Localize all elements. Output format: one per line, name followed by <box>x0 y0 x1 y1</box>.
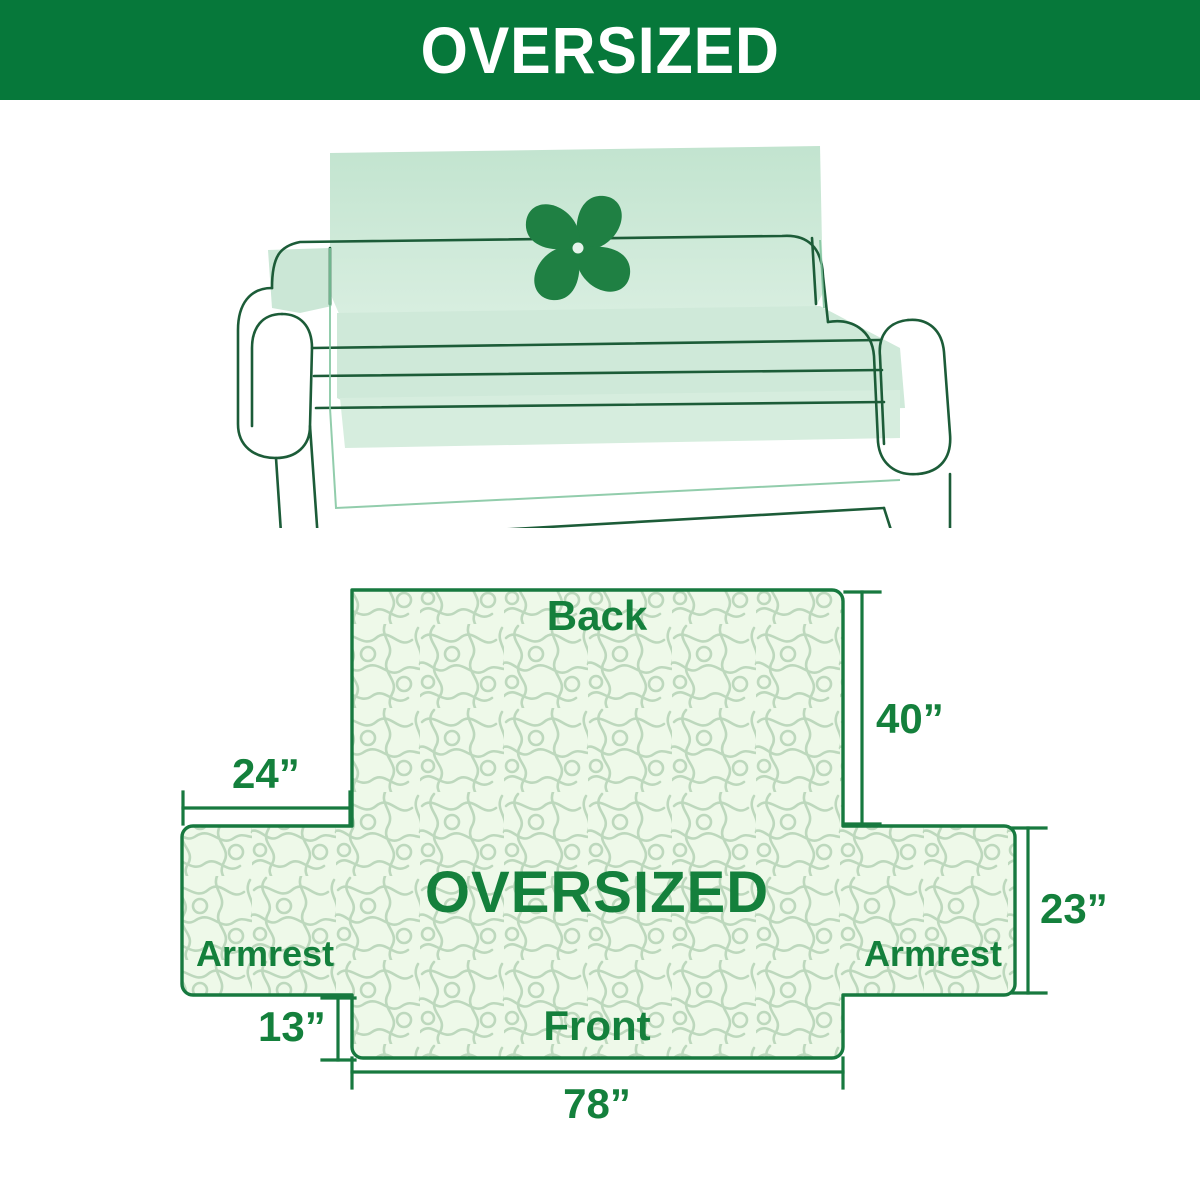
dimension-back-height: 40” <box>845 592 944 824</box>
diagram-center-label: OVERSIZED <box>425 860 769 925</box>
sofa-illustration <box>0 108 1200 528</box>
dimension-total-width-label: 78” <box>563 1080 631 1127</box>
panel-label-armrest-left: Armrest <box>196 933 334 974</box>
dimension-total-width: 78” <box>352 1058 843 1127</box>
header-banner: OVERSIZED <box>0 0 1200 100</box>
panel-label-back: Back <box>547 592 648 639</box>
dimension-front-drop-label: 13” <box>258 1003 326 1050</box>
dimension-armrest-height: 23” <box>1012 828 1108 993</box>
slipcover-flat-diagram: 40” 24” 23” <box>0 540 1200 1140</box>
dimension-back-height-label: 40” <box>876 695 944 742</box>
dimension-armrest-height-label: 23” <box>1040 885 1108 932</box>
slipcover-seat-fill <box>337 306 905 448</box>
page-title: OVERSIZED <box>420 17 779 83</box>
dimension-armrest-width-label: 24” <box>232 750 300 797</box>
dimension-front-drop: 13” <box>258 998 355 1060</box>
cover-cross-shape <box>182 590 1015 1058</box>
panel-label-armrest-right: Armrest <box>864 933 1002 974</box>
dimension-armrest-width: 24” <box>183 750 350 824</box>
panel-label-front: Front <box>543 1002 650 1049</box>
